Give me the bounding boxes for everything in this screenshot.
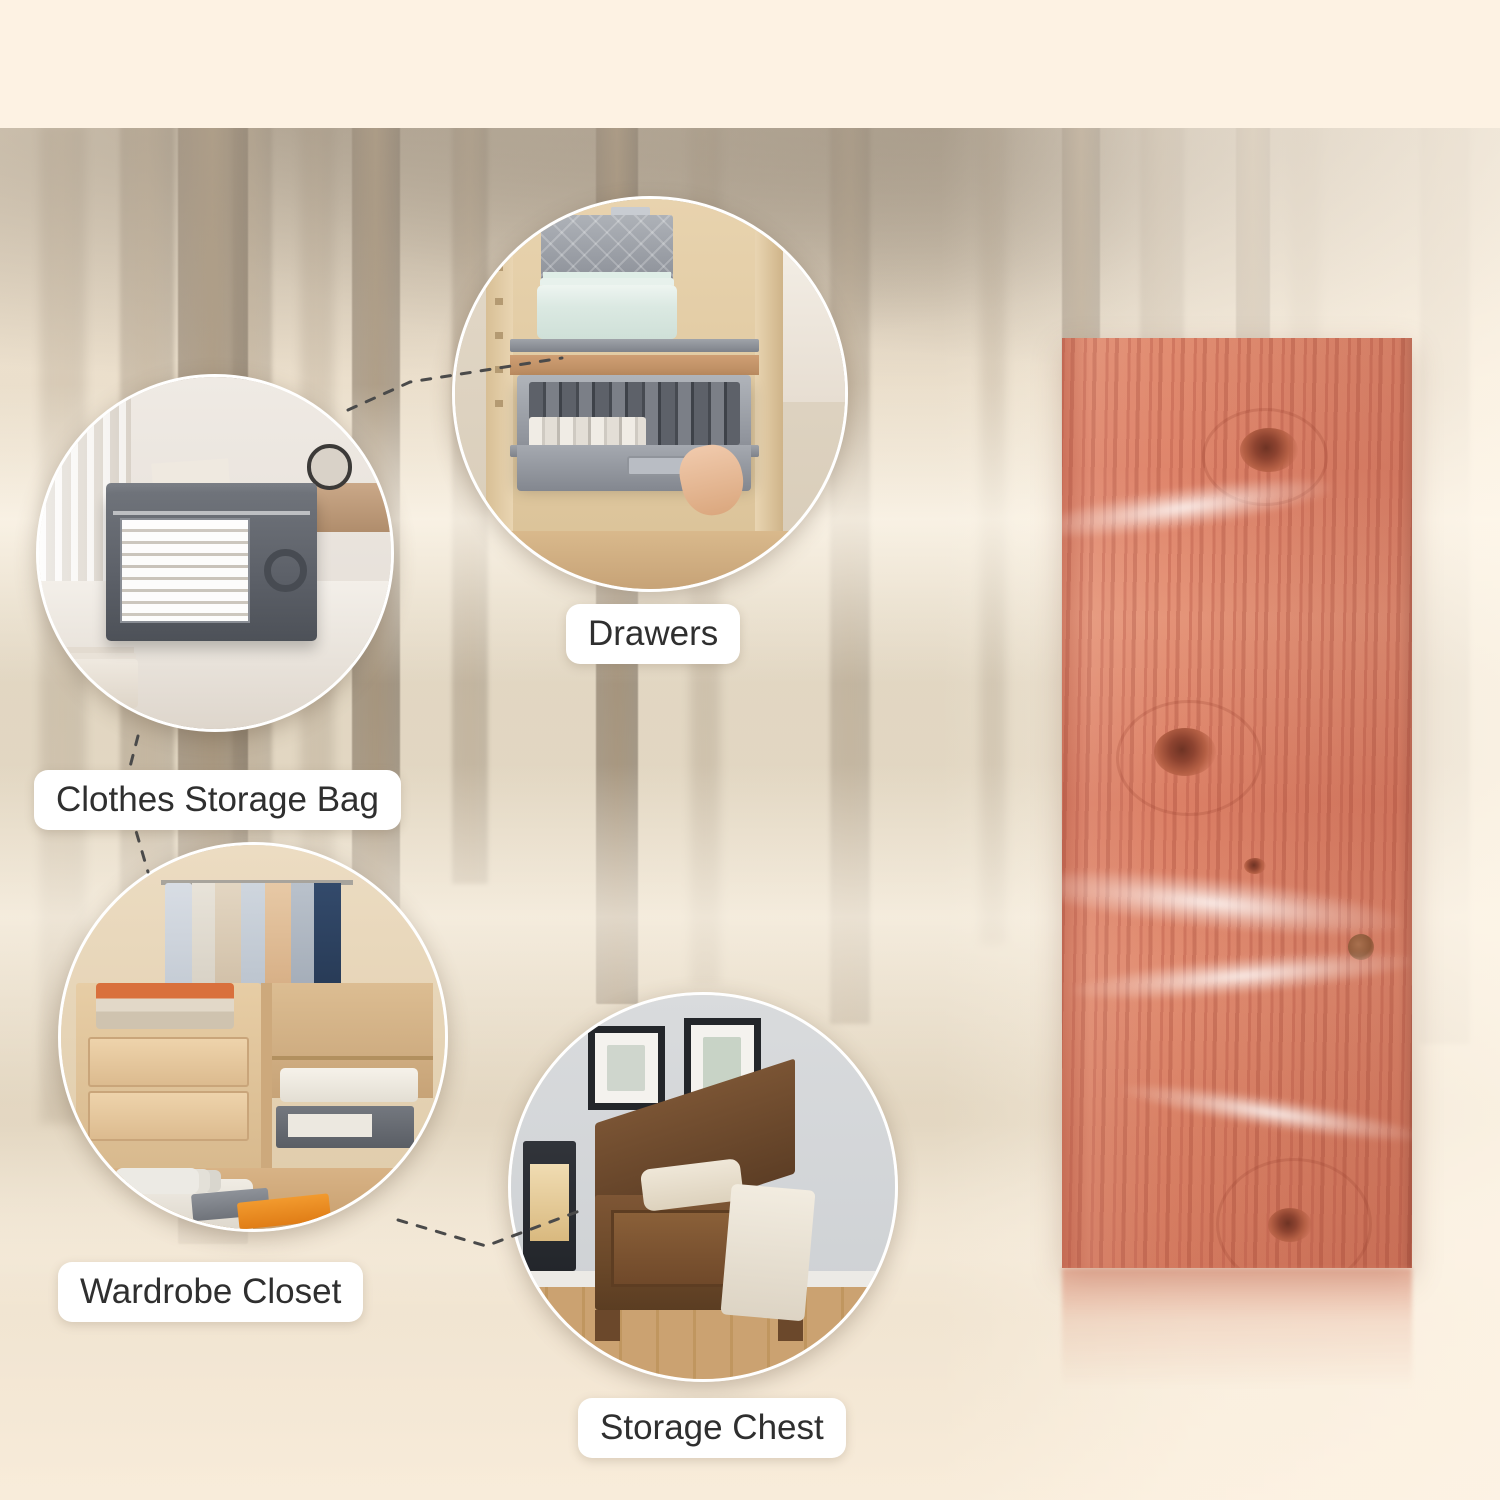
smoke-wisp xyxy=(1122,1075,1412,1152)
storage-bag-handle xyxy=(264,549,306,591)
wooden-drawer-upper xyxy=(88,1037,249,1087)
window-light xyxy=(775,230,845,402)
label-clothes-storage-bag: Clothes Storage Bag xyxy=(34,770,401,830)
wardrobe-side-right xyxy=(755,199,782,534)
slippers xyxy=(115,1168,199,1195)
lantern-glass xyxy=(530,1164,568,1241)
smoke-wisp xyxy=(1062,858,1404,947)
header-band xyxy=(0,0,1500,128)
bubble-wardrobe-closet[interactable] xyxy=(58,842,448,1232)
shelf-peg-holes xyxy=(495,230,503,425)
smoke-wisp xyxy=(1062,467,1333,548)
page-root: Variety of Uses xyxy=(0,0,1500,1500)
throw-blanket xyxy=(721,1184,817,1321)
folded-sheets xyxy=(46,659,138,708)
storage-bag-window xyxy=(120,518,250,624)
wood-knot xyxy=(1244,858,1266,874)
scene-clothes-storage-bag xyxy=(39,377,391,729)
framed-artwork-left xyxy=(607,1045,645,1091)
folded-towels xyxy=(537,285,677,340)
wooden-drawer-lower xyxy=(88,1091,249,1141)
label-wardrobe-closet: Wardrobe Closet xyxy=(58,1262,363,1322)
storage-bag-zipper xyxy=(113,511,310,515)
grey-storage-bag-window xyxy=(288,1114,372,1137)
smoke-wisp xyxy=(1071,943,1412,1008)
shelf-board xyxy=(510,355,760,375)
wood-grain xyxy=(1116,700,1262,816)
floor xyxy=(455,531,845,590)
shelf-edge xyxy=(272,1056,433,1060)
wood-grain xyxy=(1216,1158,1372,1268)
cabinet-divider xyxy=(261,983,273,1183)
cedar-plank-reflection xyxy=(1062,1268,1412,1388)
scene-wardrobe-closet xyxy=(61,845,445,1229)
label-storage-chest: Storage Chest xyxy=(578,1398,846,1458)
cedar-plank-product xyxy=(1062,338,1412,1268)
bubble-clothes-storage-bag[interactable] xyxy=(36,374,394,732)
scene-storage-chest xyxy=(511,995,895,1379)
bubble-drawers[interactable] xyxy=(452,196,848,592)
folded-clothes-stack xyxy=(96,983,234,1029)
bubble-storage-chest[interactable] xyxy=(508,992,898,1382)
folded-quilt xyxy=(280,1068,418,1103)
shelf-rail-upper xyxy=(510,339,760,351)
scene-drawers xyxy=(455,199,845,589)
top-storage-bin xyxy=(541,215,674,281)
label-drawers: Drawers xyxy=(566,604,740,664)
